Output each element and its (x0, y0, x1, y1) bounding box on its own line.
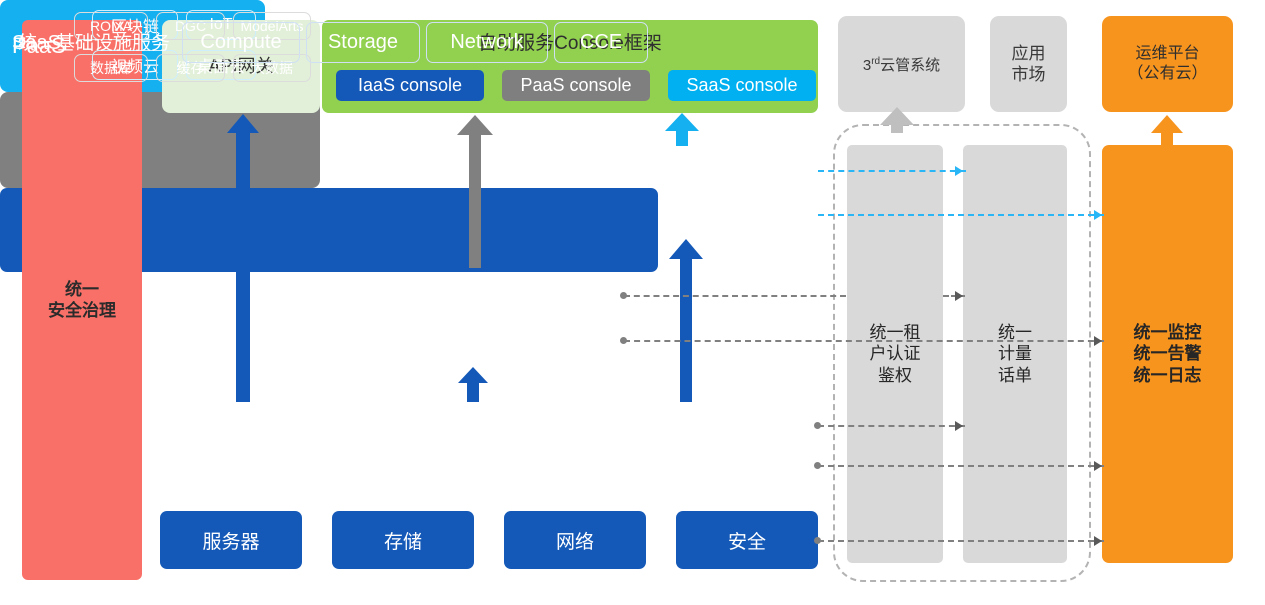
ops-platform-public-cloud-box[interactable]: 运维平台 （公有云） (1102, 16, 1233, 112)
arrow-monitor-to-ops-platform (1151, 115, 1183, 145)
third-party-superscript: rd (871, 56, 880, 67)
infra-chip-cce[interactable]: CCE (554, 22, 648, 63)
infra-chip-compute[interactable]: Compute (182, 22, 300, 63)
connector-infra-to-auth (818, 425, 965, 427)
connector-paas-to-auth (624, 295, 846, 297)
infra-chip-storage[interactable]: Storage (306, 22, 420, 63)
saas-console-chip[interactable]: SaaS console (668, 70, 816, 101)
connector-saas-to-billing (818, 170, 966, 172)
arrowhead-auth-to-billing-upper (955, 291, 963, 301)
infra-chip-network[interactable]: Network (426, 22, 548, 63)
arrow-infra-to-paas (458, 367, 488, 402)
connector-infra-to-monitor (818, 465, 1104, 467)
resource-box-server[interactable]: 服务器 (160, 511, 302, 569)
app-market-box[interactable]: 应用 市场 (990, 16, 1067, 112)
connector-paas-to-monitor (624, 340, 1104, 342)
arrow-saas-to-console (665, 113, 699, 146)
arrowhead-paas-to-monitor (1094, 336, 1102, 346)
security-governance-column[interactable]: 统一 安全治理 (22, 20, 142, 580)
iaas-console-chip[interactable]: IaaS console (336, 70, 484, 101)
paas-chip-database[interactable]: 数据库 (74, 54, 148, 82)
architecture-diagram: 统一 安全治理 API网关 自助服务Console框架 IaaS console… (0, 0, 1265, 605)
unified-tenant-auth-column[interactable]: 统一租 户认证 鉴权 (847, 145, 943, 563)
unified-monitoring-column[interactable]: 统一监控 统一告警 统一日志 (1102, 145, 1233, 563)
arrowhead-saas-to-monitor (1094, 210, 1102, 220)
infrastructure-label: 统一基础设施服务 (18, 28, 170, 55)
unified-metering-billing-column[interactable]: 统一 计量 话单 (963, 145, 1067, 563)
connector-resources-to-monitor (818, 540, 1104, 542)
third-party-cloud-label: 3rd云管系统 (863, 54, 940, 75)
paas-console-chip[interactable]: PaaS console (502, 70, 650, 101)
arrowhead-saas-to-billing (955, 166, 963, 176)
connector-saas-to-monitor (818, 214, 1104, 216)
third-party-cloud-mgmt-box[interactable]: 3rd云管系统 (838, 16, 965, 112)
arrowhead-infra-to-auth (955, 421, 963, 431)
arrowhead-infra-to-monitor (1094, 461, 1102, 471)
arrow-infra-to-saas (669, 239, 703, 402)
resource-box-storage[interactable]: 存储 (332, 511, 474, 569)
arrowhead-resources-to-monitor (1094, 536, 1102, 546)
resource-box-security[interactable]: 安全 (676, 511, 818, 569)
resource-box-network[interactable]: 网络 (504, 511, 646, 569)
